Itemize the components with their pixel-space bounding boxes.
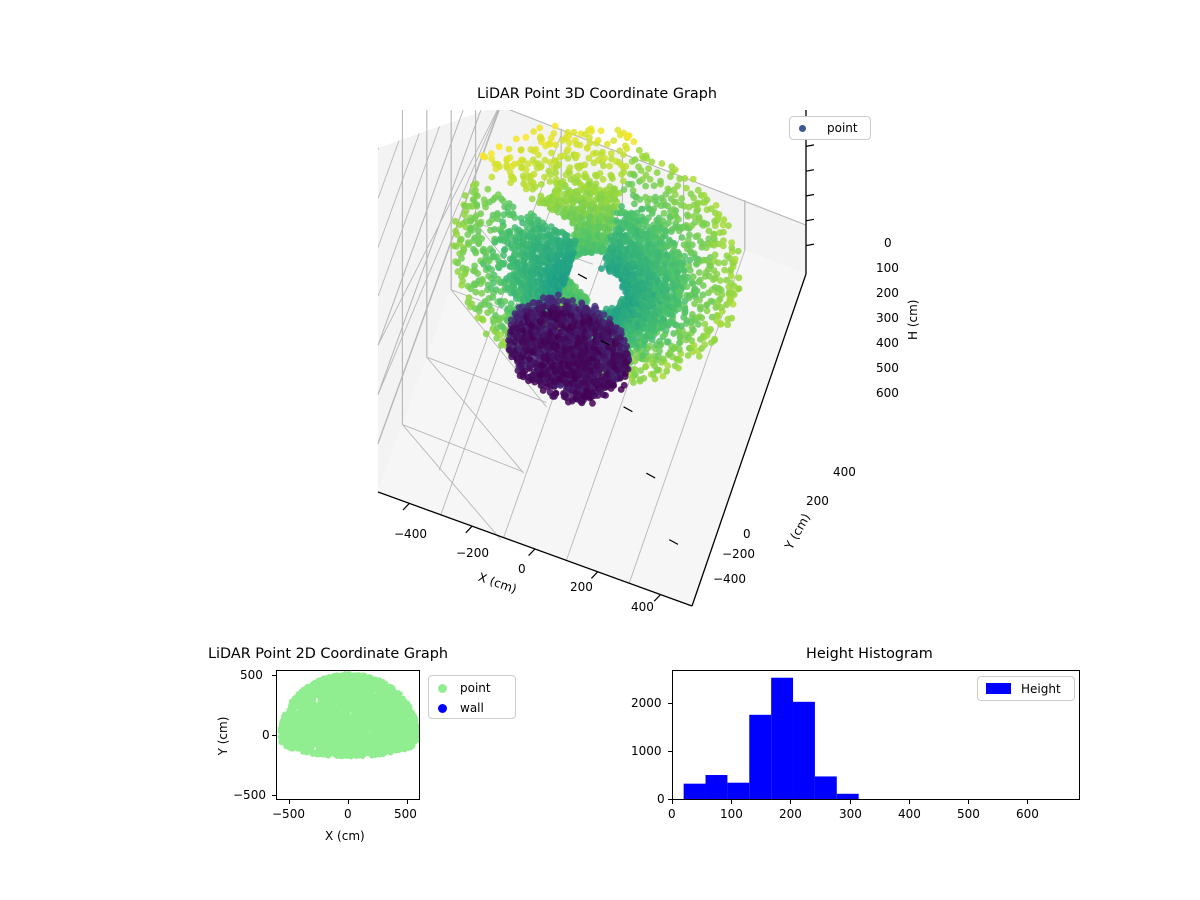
tick-label-2d-y-m500: −500 xyxy=(233,788,266,802)
tick-2d-y-1 xyxy=(272,735,276,736)
wall-marker-icon xyxy=(438,704,447,713)
chart-2d-title: LiDAR Point 2D Coordinate Graph xyxy=(208,646,448,662)
tick-label-2d-y-0: 0 xyxy=(262,728,270,742)
tick-label-hist-x-500: 500 xyxy=(957,807,980,821)
tick-label-hist-x-0: 0 xyxy=(668,807,676,821)
axis-label-x-2d: X (cm) xyxy=(325,829,365,843)
axes-2d-scatter[interactable] xyxy=(276,670,420,800)
point-marker-icon xyxy=(438,684,447,693)
tick-hist-x-3 xyxy=(850,800,851,804)
tick-z-3d-2: 200 xyxy=(876,286,899,300)
tick-hist-x-4 xyxy=(909,800,910,804)
tick-label-2d-x-500: 500 xyxy=(394,807,417,821)
tick-label-hist-x-100: 100 xyxy=(720,807,743,821)
axis-label-y-2d: Y (cm) xyxy=(216,713,230,759)
tick-label-hist-x-600: 600 xyxy=(1016,807,1039,821)
legend-hist-row-height[interactable]: Height xyxy=(978,677,1074,700)
tick-2d-x-1 xyxy=(348,800,349,804)
tick-z-3d-3: 300 xyxy=(876,311,899,325)
tick-hist-x-1 xyxy=(731,800,732,804)
matplotlib-figure: LiDAR Point 3D Coordinate Graph xyxy=(0,0,1200,900)
legend-3d[interactable]: point xyxy=(789,116,871,140)
tick-z-3d-4: 400 xyxy=(876,336,899,350)
tick-z-3d-6: 600 xyxy=(876,386,899,400)
tick-y-3d-3: 200 xyxy=(806,494,829,508)
chart-hist-title: Height Histogram xyxy=(806,646,933,662)
tick-label-2d-x-0: 0 xyxy=(344,807,352,821)
tick-hist-x-0 xyxy=(672,800,673,804)
point-region-2d xyxy=(278,671,420,759)
tick-label-hist-y-2000: 2000 xyxy=(631,696,662,710)
legend-2d-row-wall[interactable]: wall xyxy=(429,698,515,718)
tick-2d-y-0 xyxy=(272,675,276,676)
tick-y-3d-2: 0 xyxy=(743,527,751,541)
tick-x-3d-1: −200 xyxy=(456,546,489,560)
axes-3d-scatter[interactable] xyxy=(340,110,940,620)
tick-hist-y-1 xyxy=(668,751,672,752)
tick-y-3d-1: −200 xyxy=(722,547,755,561)
axes-3d-canvas xyxy=(340,110,940,620)
tick-z-3d-1: 100 xyxy=(876,261,899,275)
axes-2d-canvas xyxy=(277,671,420,800)
tick-hist-x-6 xyxy=(1027,800,1028,804)
tick-x-3d-2: 0 xyxy=(518,562,526,576)
tick-label-hist-x-400: 400 xyxy=(898,807,921,821)
legend-2d-row-point[interactable]: point xyxy=(429,678,515,698)
legend-2d-label-point: point xyxy=(460,681,491,695)
chart-3d-title: LiDAR Point 3D Coordinate Graph xyxy=(477,86,717,102)
tick-label-2d-y-500: 500 xyxy=(240,668,263,682)
tick-x-3d-3: 200 xyxy=(570,580,593,594)
legend-2d[interactable]: point wall xyxy=(428,675,516,719)
tick-hist-y-2 xyxy=(668,703,672,704)
tick-hist-x-2 xyxy=(790,800,791,804)
point-marker-icon xyxy=(799,125,806,132)
legend-3d-label-point: point xyxy=(827,121,858,135)
tick-z-3d-0: 0 xyxy=(884,236,892,250)
tick-2d-x-2 xyxy=(407,800,408,804)
tick-hist-x-5 xyxy=(968,800,969,804)
tick-x-3d-0: −400 xyxy=(394,527,427,541)
tick-y-3d-4: 400 xyxy=(833,465,856,479)
histogram-bars xyxy=(684,678,881,800)
height-bar-swatch-icon xyxy=(986,683,1011,694)
axis-label-z-3d: H (cm) xyxy=(906,300,920,341)
tick-label-hist-x-200: 200 xyxy=(779,807,802,821)
tick-y-3d-0: −400 xyxy=(713,572,746,586)
legend-3d-row-point[interactable]: point xyxy=(790,117,870,139)
tick-2d-x-0 xyxy=(289,800,290,804)
legend-hist-label-height: Height xyxy=(1021,682,1061,696)
tick-label-hist-y-1000: 1000 xyxy=(631,744,662,758)
tick-label-2d-x-m500: −500 xyxy=(272,807,305,821)
tick-z-3d-5: 500 xyxy=(876,361,899,375)
tick-x-3d-4: 400 xyxy=(631,600,654,614)
tick-2d-y-2 xyxy=(272,795,276,796)
tick-label-hist-x-300: 300 xyxy=(839,807,862,821)
legend-2d-label-wall: wall xyxy=(460,701,484,715)
legend-histogram[interactable]: Height xyxy=(977,676,1075,701)
tick-label-hist-y-0: 0 xyxy=(657,792,665,806)
